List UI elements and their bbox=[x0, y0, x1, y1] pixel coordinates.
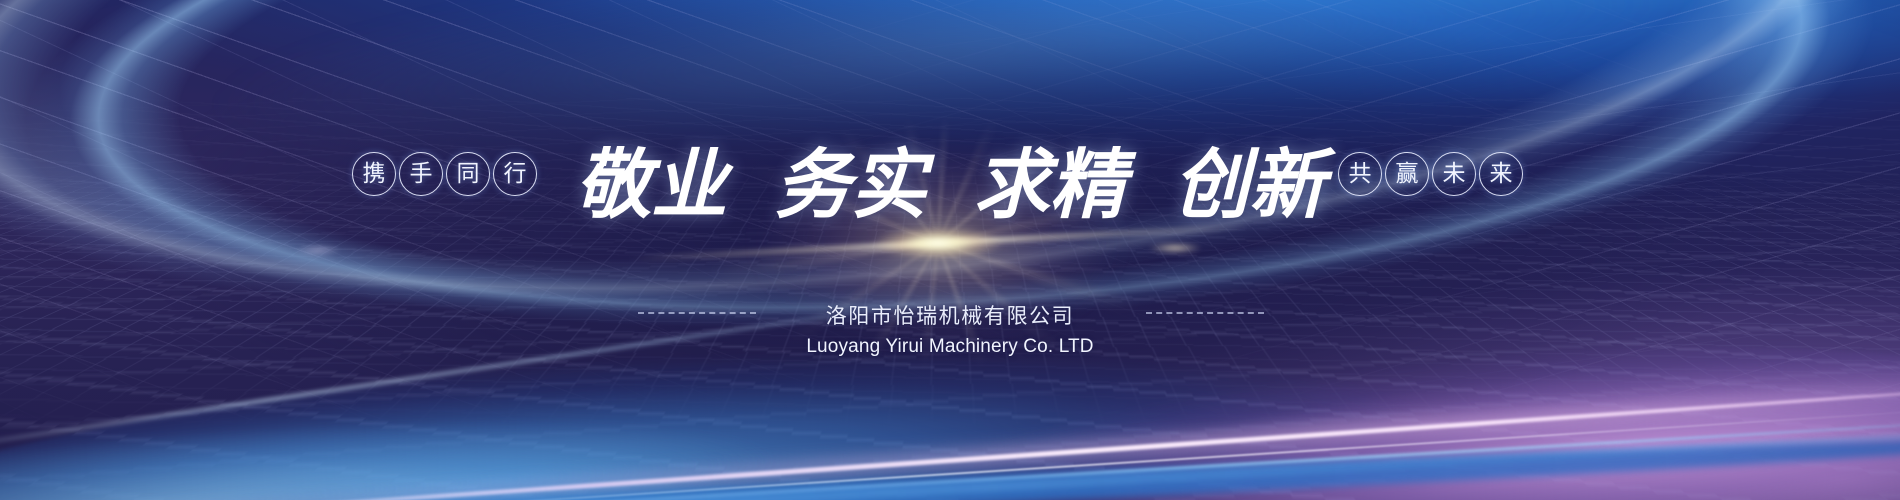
circled-phrase-left: 携 手 同 行 bbox=[352, 152, 537, 196]
company-name-en: Luoyang Yirui Machinery Co. LTD bbox=[0, 336, 1900, 358]
circled-char-ying-label: 赢 bbox=[1396, 163, 1419, 186]
slogan-group-chuangxin: 创新 bbox=[1173, 147, 1325, 223]
circled-char-gong-label: 共 bbox=[1349, 163, 1372, 186]
circled-phrase-right: 共 赢 未 来 bbox=[1338, 152, 1523, 196]
circled-char-xie-label: 携 bbox=[363, 163, 386, 186]
circled-char-wei-label: 未 bbox=[1443, 163, 1466, 186]
slogan-calligraphy: 敬业 务实 求精 创新 bbox=[575, 133, 1325, 237]
circled-char-tong-label: 同 bbox=[457, 163, 480, 186]
company-name-block: 洛阳市怡瑞机械有限公司 Luoyang Yirui Machinery Co. … bbox=[0, 300, 1900, 358]
banner-content: 携 手 同 行 敬业 务实 求精 创新 共 赢 未 来 洛阳市怡瑞机械有限公司 … bbox=[0, 0, 1900, 500]
circled-char-xing-label: 行 bbox=[504, 163, 527, 186]
slogan-group-qiujing: 求精 bbox=[974, 147, 1126, 223]
hero-banner: 携 手 同 行 敬业 务实 求精 创新 共 赢 未 来 洛阳市怡瑞机械有限公司 … bbox=[0, 0, 1900, 500]
slogan-group-jingye: 敬业 bbox=[575, 147, 727, 223]
circled-char-xie: 携 bbox=[352, 152, 396, 196]
circled-char-ying: 赢 bbox=[1385, 152, 1429, 196]
slogan-group-wushi: 务实 bbox=[774, 147, 926, 223]
circled-char-wei: 未 bbox=[1432, 152, 1476, 196]
circled-char-lai-label: 来 bbox=[1490, 163, 1513, 186]
circled-char-tong: 同 bbox=[446, 152, 490, 196]
company-name-cn: 洛阳市怡瑞机械有限公司 bbox=[0, 300, 1900, 330]
circled-char-gong: 共 bbox=[1338, 152, 1382, 196]
circled-char-shou-label: 手 bbox=[410, 163, 433, 186]
circled-char-xing: 行 bbox=[493, 152, 537, 196]
circled-char-shou: 手 bbox=[399, 152, 443, 196]
circled-char-lai: 来 bbox=[1479, 152, 1523, 196]
